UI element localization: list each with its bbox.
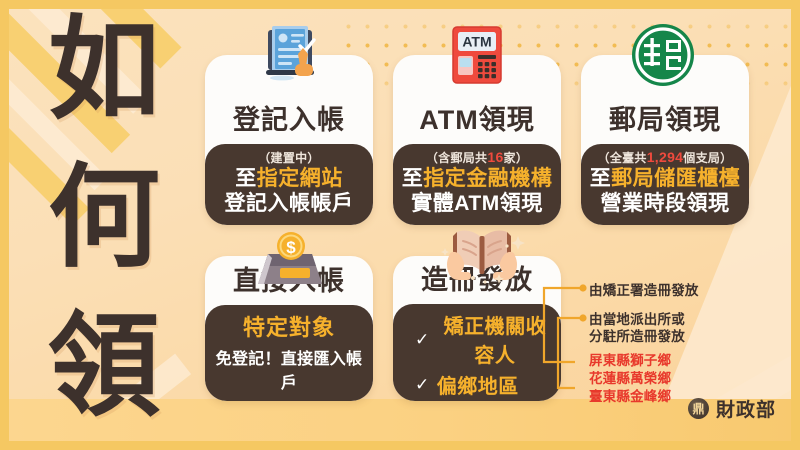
page-title: 如 何 領	[34, 18, 174, 418]
ministry-name: 財政部	[716, 395, 776, 422]
annotation-town-3: 臺東縣金峰鄉	[589, 388, 671, 405]
card-note: （全臺共1,294個支局）	[589, 149, 741, 166]
infographic-root: 如 何 領 ATM	[0, 0, 800, 450]
coin-dollar-sign: $	[286, 238, 296, 257]
ministry-logo: 鼎 財政部	[688, 395, 776, 422]
check-icon: ✓	[415, 331, 430, 348]
card-body: （含郵局共16家） 至指定金融機構 實體ATM領現	[393, 144, 561, 225]
atm-machine-icon: ATM	[447, 25, 507, 92]
post-office-logo-icon	[630, 22, 696, 93]
card-title: ATM領現	[393, 96, 561, 144]
line1-highlight: 指定金融機構	[423, 167, 552, 190]
card-body: （建置中） 至指定網站 登記入帳帳戶	[205, 144, 373, 225]
open-book-hands-icon	[437, 226, 527, 293]
note-number: 1,294	[647, 149, 684, 165]
line1-plain: 至	[235, 167, 257, 190]
direct-main-text: 特定對象	[213, 310, 365, 342]
card-note: （含郵局共16家）	[401, 149, 553, 166]
note-tail: 家）	[504, 151, 529, 165]
card-line-2: 營業時段領現	[589, 192, 741, 217]
card-body: （全臺共1,294個支局） 至郵局儲匯櫃檯 營業時段領現	[581, 144, 749, 225]
card-title: 登記入帳	[205, 96, 373, 144]
line1-plain: 至	[402, 167, 424, 190]
card-body: 特定對象 免登記！直接匯入帳戶	[205, 305, 373, 401]
line1-highlight: 指定網站	[257, 167, 343, 190]
card-line-1: 至指定金融機構	[401, 167, 553, 192]
card-line-1: 至指定網站	[213, 167, 365, 192]
line1-plain: 至	[590, 167, 612, 190]
card-line-2: 登記入帳帳戶	[213, 192, 365, 217]
ministry-emblem-icon: 鼎	[688, 398, 709, 419]
direct-sub-text: 免登記！直接匯入帳戶	[213, 345, 365, 393]
note-text: （含郵局共	[426, 151, 488, 165]
card-title: 郵局領現	[581, 96, 749, 144]
note-number: 16	[487, 149, 503, 165]
cash-box-coin-icon: $	[250, 228, 332, 293]
annotation-second: 由當地派出所或 分駐所造冊發放	[589, 311, 685, 346]
roster-item-label: 偏鄉地區	[437, 370, 519, 399]
check-icon: ✓	[415, 376, 430, 393]
line1-highlight: 郵局儲匯櫃檯	[611, 167, 740, 190]
card-line-1: 至郵局儲匯櫃檯	[589, 167, 741, 192]
title-char-3: 領	[48, 315, 160, 418]
note-text: （建置中）	[258, 151, 320, 165]
note-tail: 個支局）	[683, 151, 732, 165]
annotation-second-line2: 分駐所造冊發放	[589, 328, 685, 345]
document-pen-icon	[252, 24, 330, 91]
card-note: （建置中）	[213, 149, 365, 166]
note-text: （全臺共	[598, 151, 647, 165]
annotation-second-line1: 由當地派出所或	[589, 311, 685, 328]
title-char-2: 何	[48, 166, 160, 269]
annotation-town-2: 花蓮縣萬榮鄉	[589, 370, 671, 387]
title-char-1: 如	[48, 18, 160, 121]
roster-item: ✓ 偏鄉地區	[401, 369, 519, 400]
annotation-first: 由矯正署造冊發放	[589, 282, 699, 299]
annotation-town-1: 屏東縣獅子鄉	[589, 352, 671, 369]
atm-screen-text: ATM	[462, 34, 491, 50]
card-line-2: 實體ATM領現	[401, 192, 553, 217]
